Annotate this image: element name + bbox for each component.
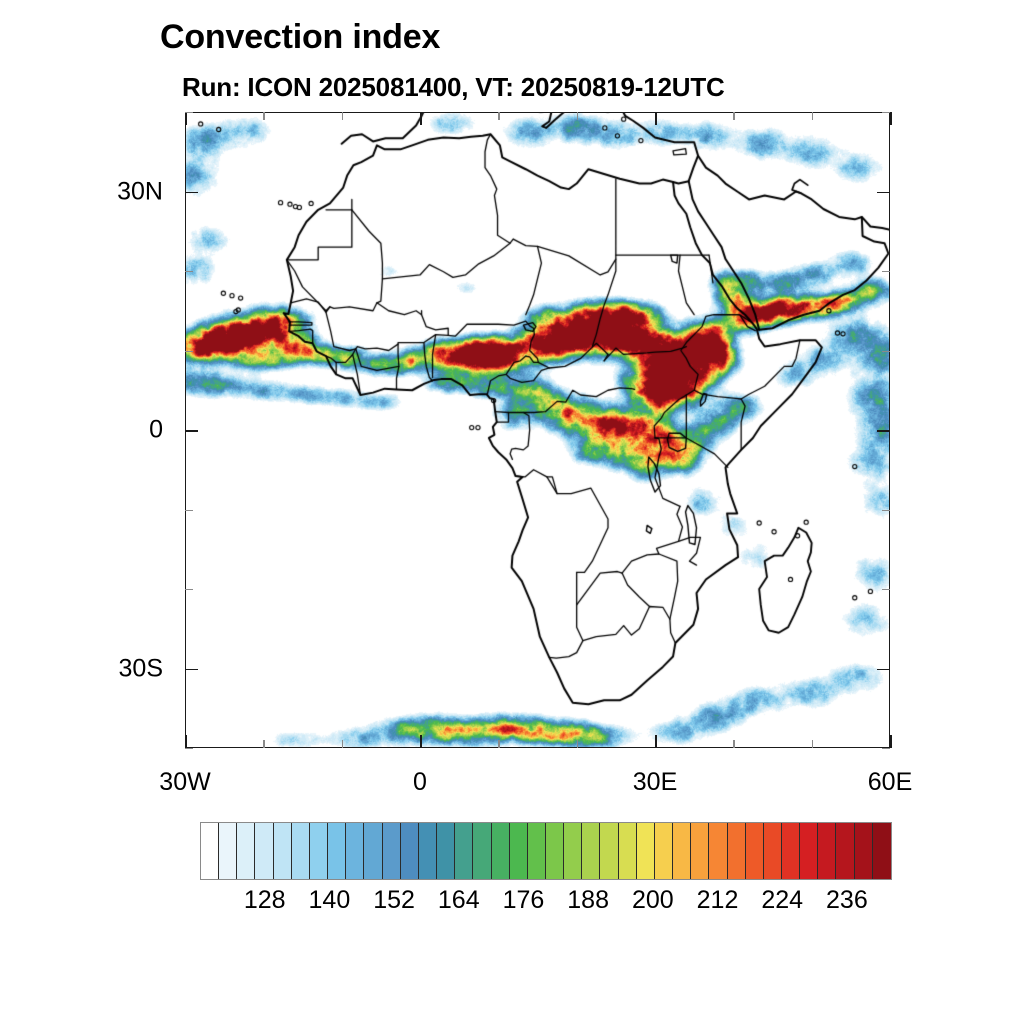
tick-mark	[655, 112, 657, 125]
x-axis-label: 60E	[868, 768, 912, 797]
tick-mark	[882, 112, 890, 113]
colorbar-cell	[873, 823, 891, 879]
tick-mark	[882, 271, 890, 272]
tick-mark	[498, 740, 499, 748]
colorbar-cell	[473, 823, 491, 879]
x-axis-label: 0	[413, 768, 427, 797]
colorbar-cell	[782, 823, 800, 879]
colorbar	[200, 822, 892, 880]
tick-mark	[890, 112, 892, 125]
tick-mark	[420, 735, 422, 748]
tick-mark	[185, 589, 193, 590]
map-plot-area	[185, 112, 890, 748]
y-axis-label: 0	[75, 416, 163, 445]
colorbar-cell	[292, 823, 310, 879]
tick-mark	[733, 740, 734, 748]
colorbar-tick-label: 224	[761, 886, 803, 915]
colorbar-cell	[346, 823, 364, 879]
colorbar-cell	[401, 823, 419, 879]
colorbar-tick-label: 140	[309, 886, 351, 915]
tick-mark	[185, 351, 193, 352]
colorbar-cell	[364, 823, 382, 879]
tick-mark	[185, 192, 198, 194]
tick-mark	[577, 740, 578, 748]
tick-mark	[882, 748, 890, 749]
tick-mark	[185, 112, 193, 113]
colorbar-cell	[600, 823, 618, 879]
colorbar-cell	[818, 823, 836, 879]
colorbar-cell	[673, 823, 691, 879]
tick-mark	[882, 589, 890, 590]
colorbar-cell	[546, 823, 564, 879]
tick-mark	[185, 271, 193, 272]
colorbar-tick-label: 176	[503, 886, 545, 915]
y-axis-label: 30S	[75, 654, 163, 683]
tick-mark	[263, 740, 264, 748]
colorbar-cell	[201, 823, 219, 879]
tick-mark	[420, 112, 422, 125]
colorbar-tick-label: 152	[373, 886, 415, 915]
colorbar-cell	[455, 823, 473, 879]
colorbar-cell	[528, 823, 546, 879]
tick-mark	[877, 192, 890, 194]
colorbar-tick-label: 128	[244, 886, 286, 915]
tick-mark	[498, 112, 499, 120]
tick-mark	[185, 112, 187, 125]
colorbar-cell	[437, 823, 455, 879]
tick-mark	[263, 112, 264, 120]
tick-mark	[185, 669, 198, 671]
tick-mark	[812, 112, 813, 120]
colorbar-cell	[655, 823, 673, 879]
tick-mark	[890, 735, 892, 748]
y-axis-label: 30N	[75, 177, 163, 206]
colorbar-cell	[419, 823, 437, 879]
tick-mark	[877, 669, 890, 671]
colorbar-cell	[691, 823, 709, 879]
tick-mark	[877, 430, 890, 432]
colorbar-tick-label: 200	[632, 886, 674, 915]
colorbar-cell	[582, 823, 600, 879]
colorbar-cell	[328, 823, 346, 879]
colorbar-cell	[510, 823, 528, 879]
tick-mark	[812, 740, 813, 748]
x-axis-label: 30W	[159, 768, 210, 797]
tick-mark	[655, 735, 657, 748]
tick-mark	[577, 112, 578, 120]
x-axis-label: 30E	[633, 768, 677, 797]
colorbar-cell	[219, 823, 237, 879]
colorbar-tick-label: 212	[697, 886, 739, 915]
colorbar-tick-label: 188	[567, 886, 609, 915]
tick-mark	[342, 740, 343, 748]
colorbar-cell	[836, 823, 854, 879]
tick-mark	[733, 112, 734, 120]
colorbar-cell	[728, 823, 746, 879]
colorbar-cell	[274, 823, 292, 879]
colorbar-cell	[383, 823, 401, 879]
colorbar-cell	[310, 823, 328, 879]
colorbar-cell	[800, 823, 818, 879]
colorbar-cell	[764, 823, 782, 879]
tick-mark	[185, 735, 187, 748]
tick-mark	[185, 748, 193, 749]
convection-index-figure: Convection index Run: ICON 2025081400, V…	[0, 0, 1024, 1024]
colorbar-cell	[855, 823, 873, 879]
colorbar-cell	[637, 823, 655, 879]
colorbar-cell	[564, 823, 582, 879]
page-title: Convection index	[160, 18, 440, 57]
run-valid-time-subtitle: Run: ICON 2025081400, VT: 20250819-12UTC	[182, 72, 725, 103]
colorbar-cell	[746, 823, 764, 879]
tick-mark	[882, 351, 890, 352]
tick-mark	[185, 430, 198, 432]
colorbar-cell	[492, 823, 510, 879]
colorbar-tick-label: 236	[826, 886, 868, 915]
colorbar-tick-label: 164	[438, 886, 480, 915]
colorbar-cell	[619, 823, 637, 879]
colorbar-cell	[255, 823, 273, 879]
tick-mark	[185, 510, 193, 511]
colorbar-cell	[237, 823, 255, 879]
colorbar-cell	[709, 823, 727, 879]
tick-mark	[882, 510, 890, 511]
country-borders-overlay	[185, 112, 890, 748]
tick-mark	[342, 112, 343, 120]
